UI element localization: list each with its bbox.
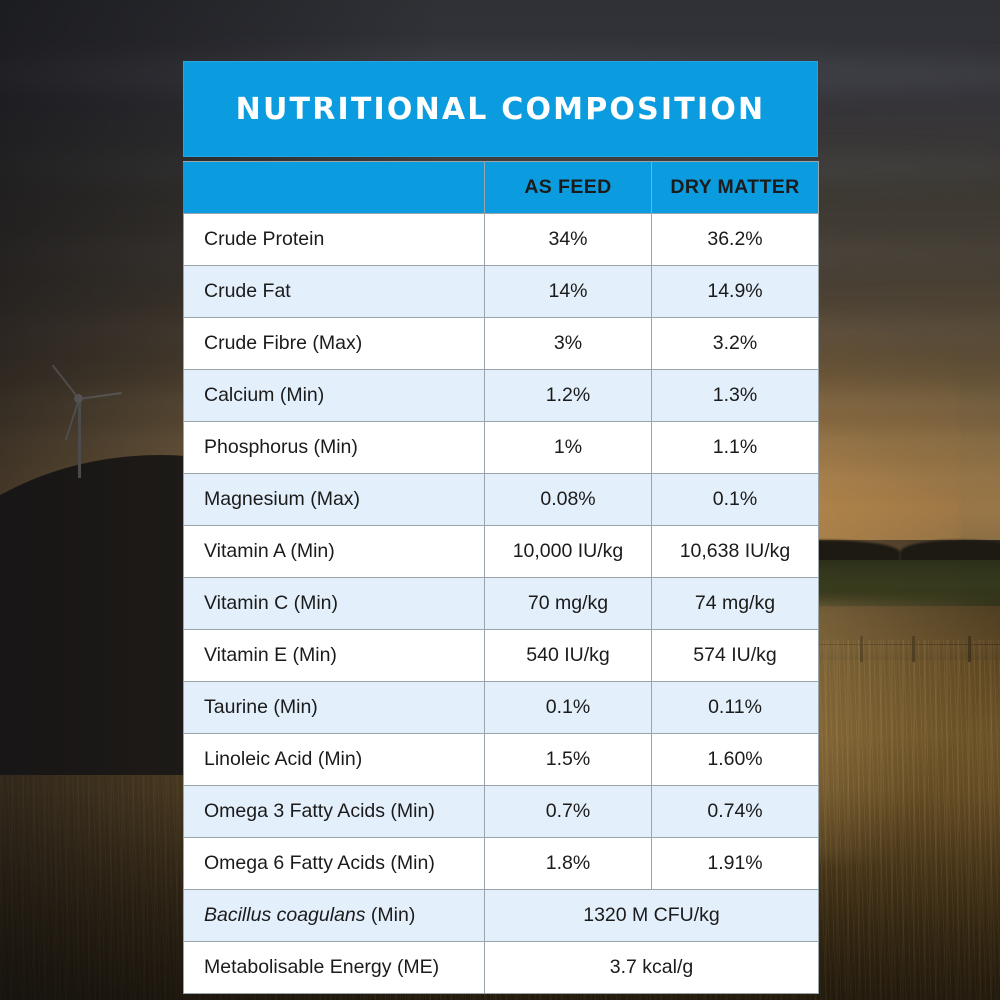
table-row: Omega 6 Fatty Acids (Min)1.8%1.91%: [184, 838, 819, 890]
nutrient-label: Vitamin E (Min): [184, 630, 485, 682]
table-row: Vitamin E (Min)540 IU/kg574 IU/kg: [184, 630, 819, 682]
table-row: Linoleic Acid (Min)1.5%1.60%: [184, 734, 819, 786]
scientific-name: Bacillus coagulans: [204, 904, 366, 926]
nutrient-value-dry-matter: 3.2%: [652, 318, 819, 370]
nutrient-value-as-feed: 14%: [485, 266, 652, 318]
nutrient-value-dry-matter: 74 mg/kg: [652, 578, 819, 630]
nutrient-label: Omega 6 Fatty Acids (Min): [184, 838, 485, 890]
nutrient-value-as-feed: 1.2%: [485, 370, 652, 422]
table-row: Crude Fat14%14.9%: [184, 266, 819, 318]
nutrient-value-dry-matter: 10,638 IU/kg: [652, 526, 819, 578]
nutrient-label: Crude Fibre (Max): [184, 318, 485, 370]
nutrient-value-as-feed: 3%: [485, 318, 652, 370]
nutrient-value-dry-matter: 1.1%: [652, 422, 819, 474]
nutrient-label: Crude Fat: [184, 266, 485, 318]
nutrient-value-dry-matter: 1.3%: [652, 370, 819, 422]
nutrient-value-dry-matter: 1.91%: [652, 838, 819, 890]
table-head: AS FEED DRY MATTER: [184, 162, 819, 214]
nutrient-value-as-feed: 1.5%: [485, 734, 652, 786]
nutrient-label: Magnesium (Max): [184, 474, 485, 526]
nutrient-value-as-feed: 0.7%: [485, 786, 652, 838]
nutrient-value-combined: 1320 M CFU/kg: [485, 890, 819, 942]
panel-title-bar: NUTRITIONAL COMPOSITION: [183, 61, 818, 157]
nutrient-value-dry-matter: 14.9%: [652, 266, 819, 318]
nutrient-value-as-feed: 10,000 IU/kg: [485, 526, 652, 578]
table-row: Magnesium (Max)0.08%0.1%: [184, 474, 819, 526]
nutrient-value-dry-matter: 36.2%: [652, 214, 819, 266]
nutrition-table: AS FEED DRY MATTER Crude Protein34%36.2%…: [183, 161, 819, 994]
column-header-label: [184, 162, 485, 214]
nutrient-value-as-feed: 0.08%: [485, 474, 652, 526]
nutrient-label: Vitamin C (Min): [184, 578, 485, 630]
nutrient-label: Linoleic Acid (Min): [184, 734, 485, 786]
table-row: Calcium (Min)1.2%1.3%: [184, 370, 819, 422]
nutrient-label: Omega 3 Fatty Acids (Min): [184, 786, 485, 838]
nutrient-value-as-feed: 1%: [485, 422, 652, 474]
nutrient-value-combined: 3.7 kcal/g: [485, 942, 819, 994]
table-row: Bacillus coagulans (Min)1320 M CFU/kg: [184, 890, 819, 942]
table-row: Crude Fibre (Max)3%3.2%: [184, 318, 819, 370]
nutrient-label: Taurine (Min): [184, 682, 485, 734]
nutrient-label: Metabolisable Energy (ME): [184, 942, 485, 994]
nutritional-composition-panel: NUTRITIONAL COMPOSITION AS FEED DRY MATT…: [183, 61, 818, 994]
nutrient-value-dry-matter: 0.1%: [652, 474, 819, 526]
table-header-row: AS FEED DRY MATTER: [184, 162, 819, 214]
nutrient-label: Phosphorus (Min): [184, 422, 485, 474]
nutrient-label: Crude Protein: [184, 214, 485, 266]
table-row: Phosphorus (Min)1%1.1%: [184, 422, 819, 474]
nutrient-value-as-feed: 34%: [485, 214, 652, 266]
table-row: Taurine (Min)0.1%0.11%: [184, 682, 819, 734]
nutrient-value-as-feed: 540 IU/kg: [485, 630, 652, 682]
nutrient-label: Bacillus coagulans (Min): [184, 890, 485, 942]
table-row: Omega 3 Fatty Acids (Min)0.7%0.74%: [184, 786, 819, 838]
nutrient-value-as-feed: 70 mg/kg: [485, 578, 652, 630]
nutrient-value-dry-matter: 0.74%: [652, 786, 819, 838]
nutrient-label: Vitamin A (Min): [184, 526, 485, 578]
column-header-dry-matter: DRY MATTER: [652, 162, 819, 214]
nutrient-value-dry-matter: 1.60%: [652, 734, 819, 786]
table-row: Crude Protein34%36.2%: [184, 214, 819, 266]
nutrient-label: Calcium (Min): [184, 370, 485, 422]
table-body: Crude Protein34%36.2%Crude Fat14%14.9%Cr…: [184, 214, 819, 994]
table-row: Metabolisable Energy (ME)3.7 kcal/g: [184, 942, 819, 994]
table-row: Vitamin A (Min)10,000 IU/kg10,638 IU/kg: [184, 526, 819, 578]
nutrient-value-as-feed: 1.8%: [485, 838, 652, 890]
nutrient-value-as-feed: 0.1%: [485, 682, 652, 734]
nutrient-value-dry-matter: 0.11%: [652, 682, 819, 734]
page-title: NUTRITIONAL COMPOSITION: [236, 92, 766, 127]
table-row: Vitamin C (Min)70 mg/kg74 mg/kg: [184, 578, 819, 630]
nutrient-value-dry-matter: 574 IU/kg: [652, 630, 819, 682]
column-header-as-feed: AS FEED: [485, 162, 652, 214]
